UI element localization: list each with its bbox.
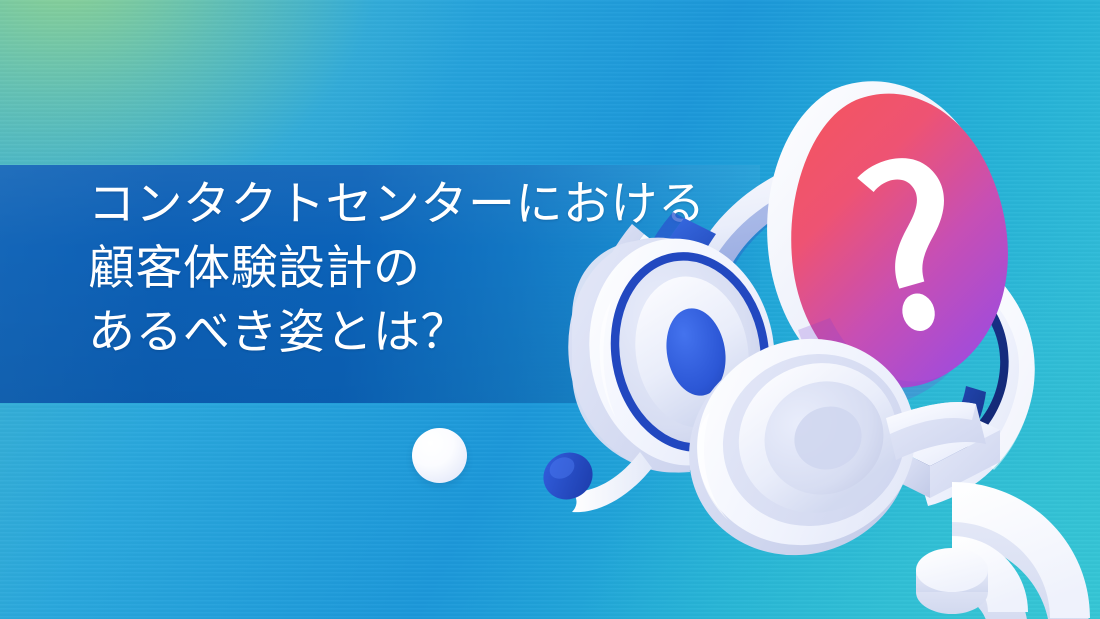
headset-illustration bbox=[0, 0, 1100, 619]
hero-banner: コンタクトセンターにおける 顧客体験設計の あるべき姿とは？ bbox=[0, 0, 1100, 619]
wifi-signal-icon bbox=[916, 482, 1090, 619]
